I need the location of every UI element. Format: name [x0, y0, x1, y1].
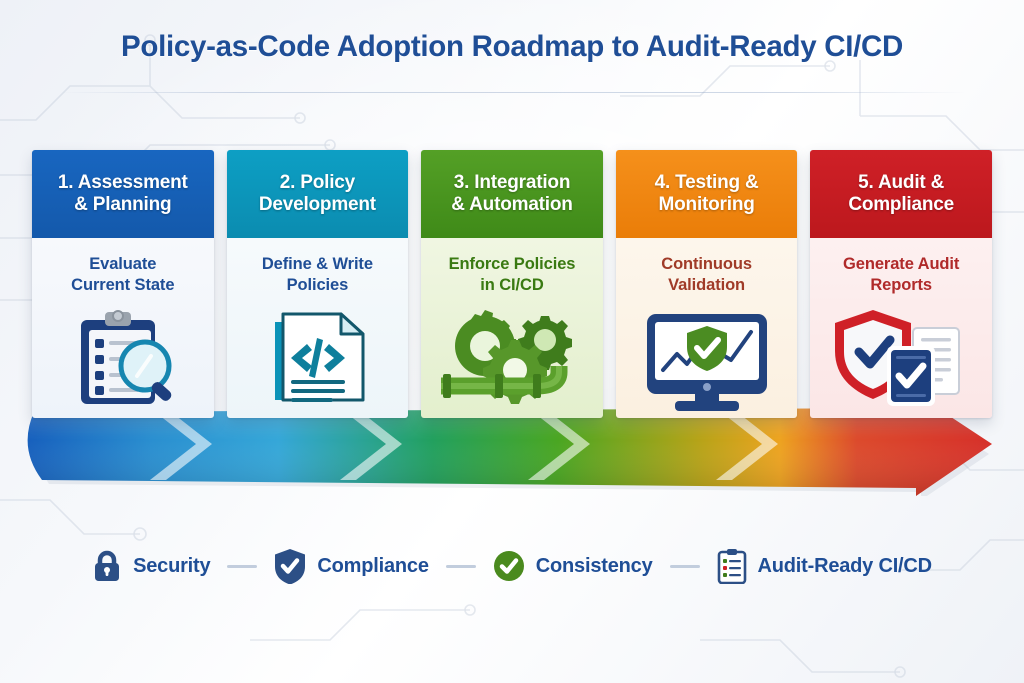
stage-4-heading-line2: Monitoring	[659, 194, 755, 215]
stage-2-subtitle-line2: Policies	[287, 276, 349, 294]
stage-1-heading-line2: & Planning	[74, 194, 171, 215]
legend-separator-2	[446, 565, 476, 568]
stage-card-policy-development[interactable]: 2. Policy Development Define & Write Pol…	[227, 150, 409, 418]
stage-cards-row: 1. Assessment & Planning Evaluate Curren…	[32, 150, 992, 418]
legend-separator-3	[670, 565, 700, 568]
stage-5-subtitle: Generate Audit Reports	[810, 254, 992, 296]
shield-report-check-icon	[831, 306, 971, 412]
stage-4-heading-line1: 4. Testing &	[655, 172, 759, 193]
stage-1-subtitle: Evaluate Current State	[32, 254, 214, 296]
stage-5-subtitle-line1: Generate Audit	[843, 255, 959, 273]
stage-5-heading-line1: 5. Audit &	[858, 172, 944, 193]
stage-3-icon-slot	[421, 304, 603, 412]
stage-2-heading-line1: 2. Policy	[280, 172, 355, 193]
stage-2-body: Define & Write Policies	[227, 238, 409, 418]
legend-item-compliance[interactable]: Compliance	[274, 548, 428, 584]
stage-1-icon-slot	[32, 304, 214, 412]
stage-3-subtitle-line1: Enforce Policies	[449, 255, 576, 273]
stage-card-integration-automation[interactable]: 3. Integration & Automation Enforce Poli…	[421, 150, 603, 418]
stage-3-heading-line1: 3. Integration	[454, 172, 571, 193]
stage-card-testing-monitoring[interactable]: 4. Testing & Monitoring Continuous Valid…	[616, 150, 798, 418]
stage-3-subtitle-line2: in CI/CD	[480, 276, 543, 294]
monitor-shield-chart-icon	[639, 308, 775, 412]
lock-icon	[92, 549, 122, 583]
stage-2-heading-line2: Development	[259, 194, 376, 215]
legend-separator-1	[227, 565, 257, 568]
stage-1-subtitle-line1: Evaluate	[89, 255, 156, 273]
stage-4-subtitle-line2: Validation	[668, 276, 745, 294]
title-divider	[58, 92, 966, 93]
legend-item-security[interactable]: Security	[92, 549, 210, 583]
stage-5-body: Generate Audit Reports	[810, 238, 992, 418]
stage-2-header: 2. Policy Development	[227, 150, 409, 238]
page-title: Policy-as-Code Adoption Roadmap to Audit…	[0, 30, 1024, 64]
stage-4-subtitle: Continuous Validation	[616, 254, 798, 296]
stage-5-icon-slot	[810, 304, 992, 412]
stage-4-icon-slot	[616, 304, 798, 412]
stage-1-header: 1. Assessment & Planning	[32, 150, 214, 238]
stage-card-assessment-planning[interactable]: 1. Assessment & Planning Evaluate Curren…	[32, 150, 214, 418]
shield-check-icon	[274, 548, 306, 584]
legend-item-audit-ready[interactable]: Audit-Ready CI/CD	[717, 548, 932, 584]
stage-4-body: Continuous Validation	[616, 238, 798, 418]
legend-label-consistency: Consistency	[536, 555, 653, 578]
stage-3-body: Enforce Policies in CI/CD	[421, 238, 603, 418]
clipboard-checklist-icon	[717, 548, 747, 584]
stage-3-heading-line2: & Automation	[451, 194, 572, 215]
stage-5-heading-line2: Compliance	[848, 194, 954, 215]
stage-5-header: 5. Audit & Compliance	[810, 150, 992, 238]
stage-2-subtitle-line1: Define & Write	[262, 255, 373, 273]
stage-1-subtitle-line2: Current State	[71, 276, 174, 294]
legend-label-audit-ready: Audit-Ready CI/CD	[758, 555, 932, 578]
stage-4-header: 4. Testing & Monitoring	[616, 150, 798, 238]
page-title-container: Policy-as-Code Adoption Roadmap to Audit…	[0, 30, 1024, 64]
infographic-canvas: Policy-as-Code Adoption Roadmap to Audit…	[0, 0, 1024, 683]
legend-item-consistency[interactable]: Consistency	[493, 550, 653, 582]
stage-1-body: Evaluate Current State	[32, 238, 214, 418]
gears-pipeline-icon	[437, 306, 587, 412]
stage-3-header: 3. Integration & Automation	[421, 150, 603, 238]
circle-check-icon	[493, 550, 525, 582]
stage-5-subtitle-line2: Reports	[870, 276, 932, 294]
stage-card-audit-compliance[interactable]: 5. Audit & Compliance Generate Audit Rep…	[810, 150, 992, 418]
stage-3-subtitle: Enforce Policies in CI/CD	[421, 254, 603, 296]
legend-row: Security Compliance Consistency	[0, 548, 1024, 584]
legend-label-security: Security	[133, 555, 210, 578]
clipboard-magnifier-icon	[59, 308, 187, 412]
stage-1-heading-line1: 1. Assessment	[58, 172, 188, 193]
stage-2-icon-slot	[227, 304, 409, 412]
stage-2-subtitle: Define & Write Policies	[227, 254, 409, 296]
code-document-icon	[257, 308, 377, 412]
legend-label-compliance: Compliance	[317, 555, 428, 578]
stage-4-subtitle-line1: Continuous	[661, 255, 752, 273]
